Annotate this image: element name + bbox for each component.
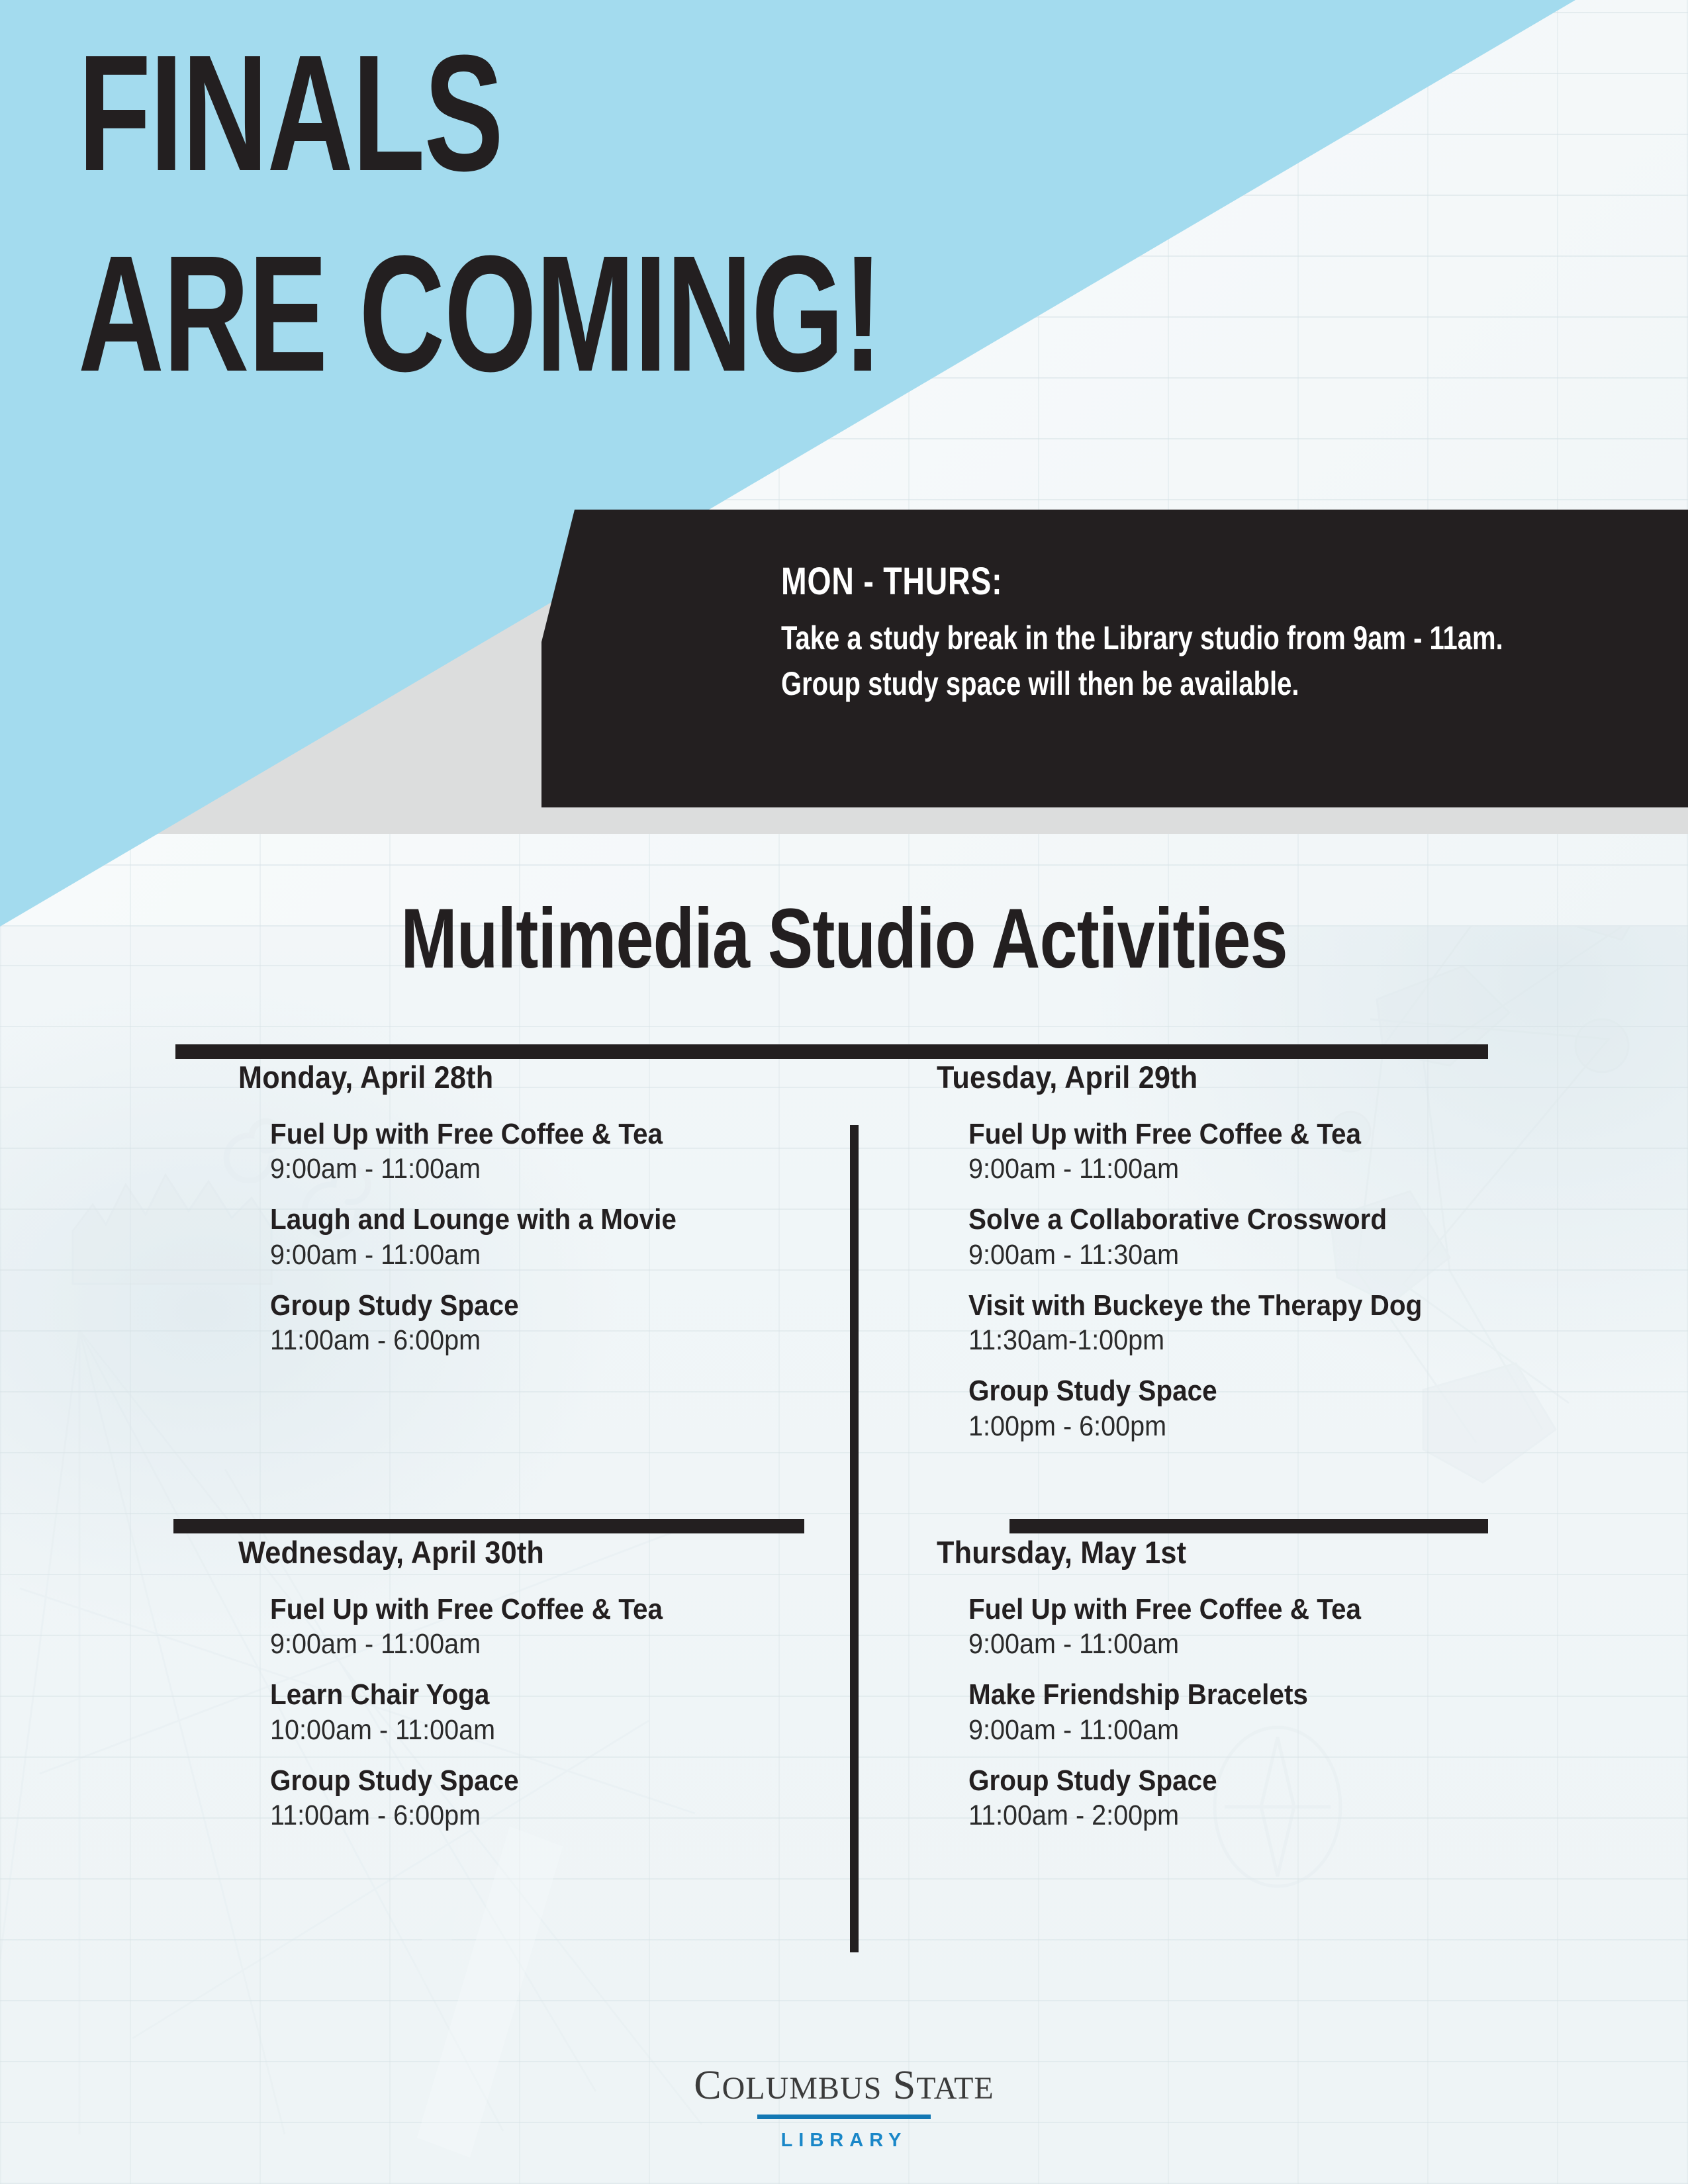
logo-s: S: [893, 2063, 916, 2108]
event-time: 11:00am - 6:00pm: [270, 1799, 850, 1831]
event-name: Laugh and Lounge with a Movie: [270, 1203, 850, 1236]
event-name: Fuel Up with Free Coffee & Tea: [968, 1118, 1548, 1150]
day-heading: Thursday, May 1st: [937, 1534, 1546, 1570]
schedule-event: Fuel Up with Free Coffee & Tea 9:00am - …: [270, 1593, 900, 1660]
schedule-event: Make Friendship Bracelets 9:00am - 11:00…: [968, 1678, 1599, 1745]
rule-thursday: [1009, 1519, 1488, 1533]
schedule-event: Fuel Up with Free Coffee & Tea 9:00am - …: [968, 1118, 1599, 1185]
event-time: 10:00am - 11:00am: [270, 1714, 850, 1746]
schedule-column-wednesday: Wednesday, April 30th Fuel Up with Free …: [238, 1534, 900, 1850]
event-time: 9:00am - 11:30am: [968, 1239, 1548, 1271]
hours-banner-line-1: Take a study break in the Library studio…: [781, 615, 1485, 661]
event-name: Visit with Buckeye the Therapy Dog: [968, 1289, 1548, 1322]
event-time: 9:00am - 11:00am: [270, 1628, 850, 1660]
logo-c: C: [694, 2063, 722, 2108]
event-name: Make Friendship Bracelets: [968, 1678, 1548, 1711]
page-title: FINALS ARE COMING!: [78, 38, 1137, 388]
event-time: 11:00am - 2:00pm: [968, 1799, 1548, 1831]
schedule-event: Solve a Collaborative Crossword 9:00am -…: [968, 1203, 1599, 1270]
event-time: 9:00am - 11:00am: [270, 1153, 850, 1185]
poster-canvas: FINALS ARE COMING! MON - THURS: Take a s…: [0, 0, 1688, 2184]
event-name: Group Study Space: [270, 1764, 850, 1797]
event-time: 11:00am - 6:00pm: [270, 1324, 850, 1356]
schedule-event: Group Study Space 11:00am - 6:00pm: [270, 1764, 900, 1831]
schedule-event: Fuel Up with Free Coffee & Tea 9:00am - …: [968, 1593, 1599, 1660]
headline-line-1: FINALS: [78, 38, 841, 187]
schedule-event: Learn Chair Yoga 10:00am - 11:00am: [270, 1678, 900, 1745]
logo-sublabel: LIBRARY: [0, 2130, 1688, 2152]
event-time: 9:00am - 11:00am: [270, 1239, 850, 1271]
logo-wordmark: COLUMBUS STATE: [0, 2065, 1688, 2106]
schedule-column-thursday: Thursday, May 1st Fuel Up with Free Coff…: [937, 1534, 1599, 1850]
event-name: Learn Chair Yoga: [270, 1678, 850, 1711]
hours-banner-heading: MON - THURS:: [781, 559, 1485, 604]
logo-olumbus: OLUMBUS: [722, 2071, 882, 2106]
headline-line-2: ARE COMING!: [78, 239, 841, 388]
logo-tate: TATE: [916, 2071, 994, 2106]
hours-banner-line-2: Group study space will then be available…: [781, 661, 1485, 707]
section-title-text: Multimedia Studio Activities: [400, 890, 1287, 987]
event-time: 9:00am - 11:00am: [968, 1628, 1548, 1660]
event-time: 11:30am-1:00pm: [968, 1324, 1548, 1356]
schedule-event: Laugh and Lounge with a Movie 9:00am - 1…: [270, 1203, 900, 1270]
event-name: Group Study Space: [270, 1289, 850, 1322]
rule-top: [175, 1044, 1488, 1059]
schedule-event: Fuel Up with Free Coffee & Tea 9:00am - …: [270, 1118, 900, 1185]
event-name: Fuel Up with Free Coffee & Tea: [270, 1118, 850, 1150]
event-name: Group Study Space: [968, 1375, 1548, 1407]
schedule-event: Group Study Space 11:00am - 6:00pm: [270, 1289, 900, 1356]
logo-divider-rule: [757, 2115, 931, 2119]
event-name: Solve a Collaborative Crossword: [968, 1203, 1548, 1236]
event-time: 9:00am - 11:00am: [968, 1153, 1548, 1185]
schedule-event: Group Study Space 11:00am - 2:00pm: [968, 1764, 1599, 1831]
schedule-column-monday: Monday, April 28th Fuel Up with Free Cof…: [238, 1059, 900, 1375]
event-time: 1:00pm - 6:00pm: [968, 1410, 1548, 1442]
day-heading: Wednesday, April 30th: [238, 1534, 847, 1570]
event-name: Fuel Up with Free Coffee & Tea: [968, 1593, 1548, 1625]
hours-banner-content: MON - THURS: Take a study break in the L…: [781, 559, 1662, 707]
schedule-column-tuesday: Tuesday, April 29th Fuel Up with Free Co…: [937, 1059, 1599, 1461]
schedule-event: Visit with Buckeye the Therapy Dog 11:30…: [968, 1289, 1599, 1356]
event-name: Group Study Space: [968, 1764, 1548, 1797]
event-time: 9:00am - 11:00am: [968, 1714, 1548, 1746]
rule-wednesday: [173, 1519, 804, 1533]
columbus-state-library-logo: COLUMBUS STATE LIBRARY: [0, 2065, 1688, 2152]
day-heading: Monday, April 28th: [238, 1059, 847, 1095]
section-title: Multimedia Studio Activities: [0, 890, 1688, 987]
schedule-event: Group Study Space 1:00pm - 6:00pm: [968, 1375, 1599, 1441]
event-name: Fuel Up with Free Coffee & Tea: [270, 1593, 850, 1625]
day-heading: Tuesday, April 29th: [937, 1059, 1546, 1095]
